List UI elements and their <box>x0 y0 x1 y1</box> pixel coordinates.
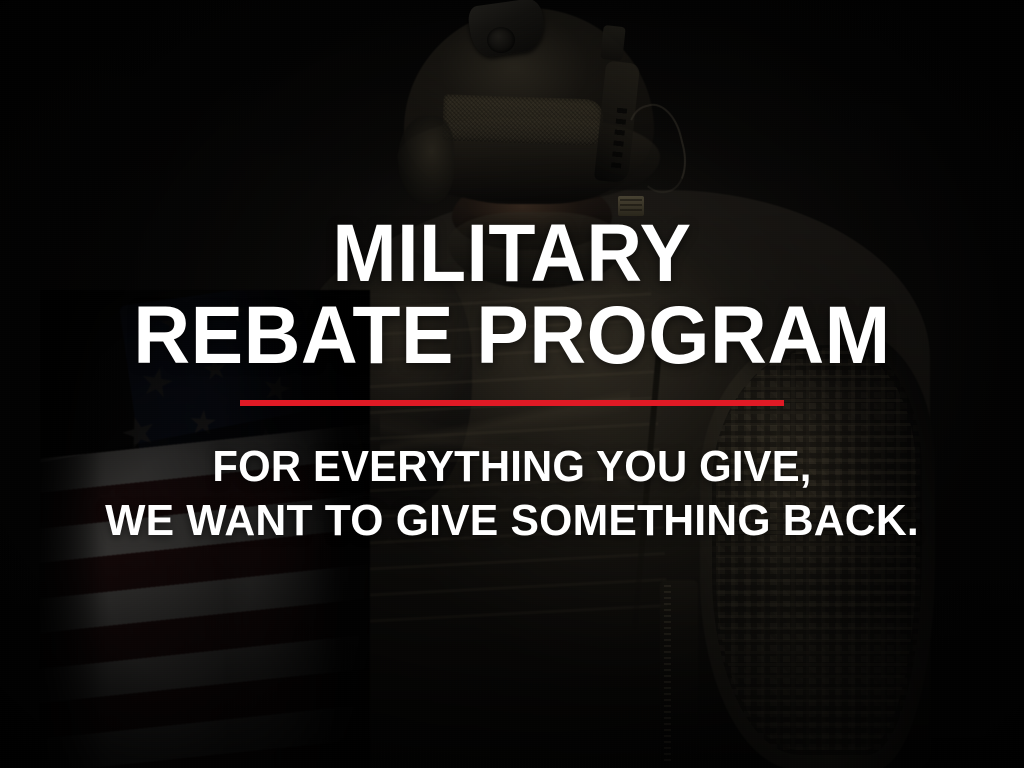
subheadline-line-2: WE WANT TO GIVE SOMETHING BACK. <box>15 499 1008 543</box>
subheadline-line-1: FOR EVERYTHING YOU GIVE, <box>26 445 999 489</box>
text-overlay: MILITARY REBATE PROGRAM FOR EVERYTHING Y… <box>0 0 1024 768</box>
headline-line-1: MILITARY <box>31 214 994 294</box>
red-divider-rule <box>240 400 784 406</box>
slide-canvas: MILITARY REBATE PROGRAM FOR EVERYTHING Y… <box>0 0 1024 768</box>
headline-line-2: REBATE PROGRAM <box>20 296 1003 376</box>
